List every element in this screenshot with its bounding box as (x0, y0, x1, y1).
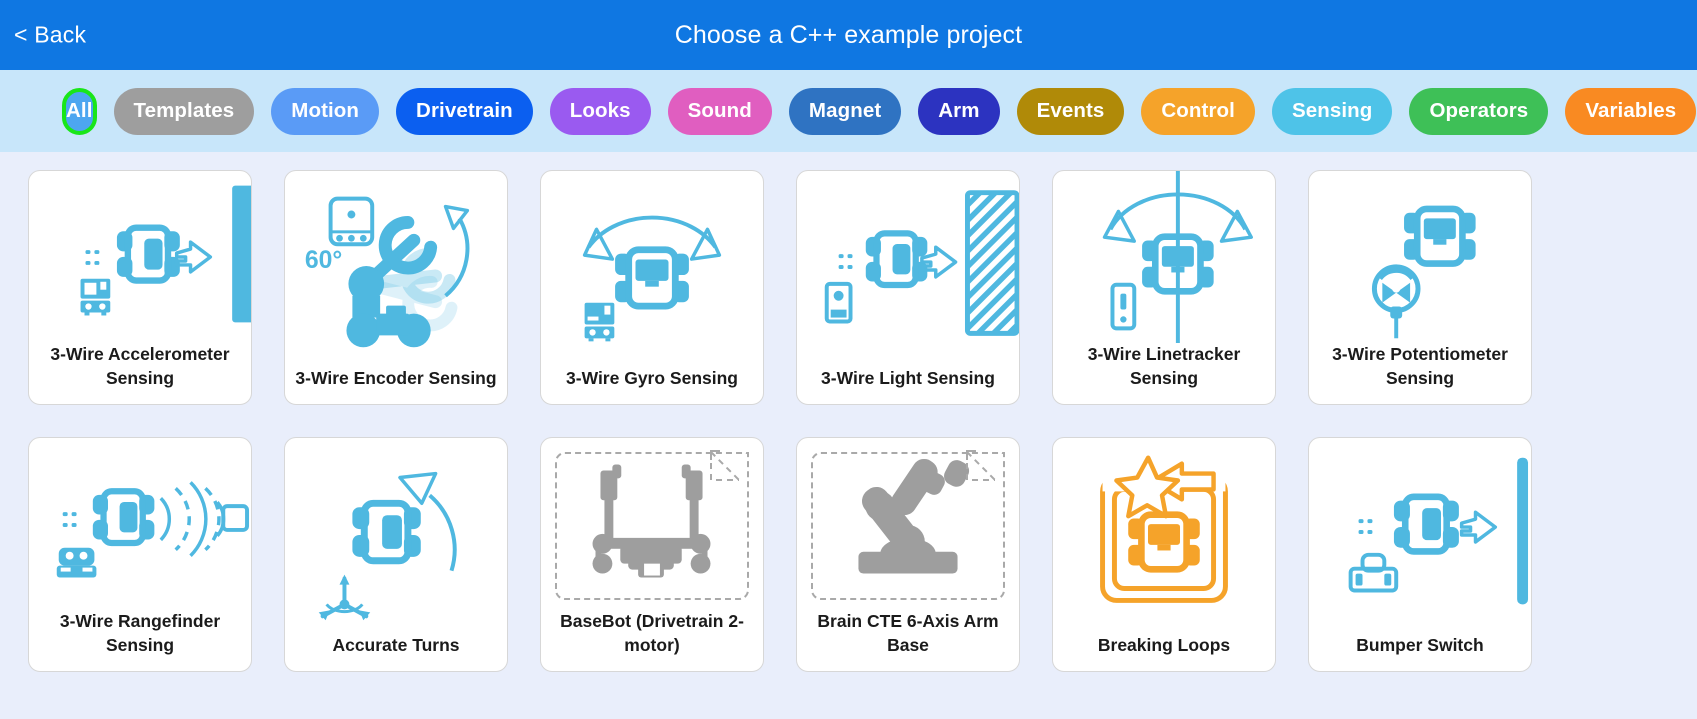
example-project-area: 3-Wire Accelerometer Sensing 60° (0, 152, 1697, 719)
accurate-turns-icon (285, 438, 507, 634)
filter-pill-label: Operators (1429, 99, 1528, 123)
example-card[interactable]: 3-Wire Potentiometer Sensing (1308, 170, 1532, 405)
filter-pill-templates[interactable]: Templates (114, 88, 255, 135)
filter-pill-sensing[interactable]: Sensing (1272, 88, 1392, 135)
example-card-label: 3-Wire Encoder Sensing (285, 367, 507, 404)
back-button[interactable]: < Back (14, 22, 86, 49)
filter-pill-drivetrain[interactable]: Drivetrain (396, 88, 533, 135)
category-filter-bar: AllTemplatesMotionDrivetrainLooksSoundMa… (0, 70, 1697, 152)
example-card[interactable]: 3-Wire Gyro Sensing (540, 170, 764, 405)
example-card-label: 3-Wire Potentiometer Sensing (1309, 343, 1531, 404)
filter-pill-label: Sensing (1292, 99, 1372, 123)
filter-pill-label: Templates (134, 99, 235, 123)
linetracker-icon (1053, 171, 1275, 343)
accelerometer-icon (29, 171, 251, 343)
example-card-label: Bumper Switch (1309, 634, 1531, 671)
light-sensor-icon (797, 171, 1019, 367)
gyro-icon (541, 171, 763, 367)
filter-pill-label: Motion (291, 99, 359, 123)
filter-pill-sound[interactable]: Sound (668, 88, 772, 135)
example-card-label: 3-Wire Rangefinder Sensing (29, 610, 251, 671)
example-card[interactable]: Brain CTE 6-Axis Arm Base (796, 437, 1020, 672)
filter-pill-label: Control (1161, 99, 1235, 123)
filter-pill-label: Variables (1585, 99, 1676, 123)
example-card-label: Breaking Loops (1053, 634, 1275, 671)
filter-pill-operators[interactable]: Operators (1409, 88, 1548, 135)
filter-pill-variables[interactable]: Variables (1565, 88, 1696, 135)
example-card[interactable]: 3-Wire Linetracker Sensing (1052, 170, 1276, 405)
filter-pill-label: Magnet (809, 99, 881, 123)
filter-pill-control[interactable]: Control (1141, 88, 1255, 135)
example-card[interactable]: Breaking Loops (1052, 437, 1276, 672)
example-card-label: Accurate Turns (285, 634, 507, 671)
filter-pill-magnet[interactable]: Magnet (789, 88, 901, 135)
example-card-label: 3-Wire Accelerometer Sensing (29, 343, 251, 404)
filter-pill-label: Sound (688, 99, 752, 123)
svg-text:60°: 60° (305, 247, 342, 274)
example-card[interactable]: 60° (284, 170, 508, 405)
filter-pill-arm[interactable]: Arm (918, 88, 999, 135)
filter-pill-label: Drivetrain (416, 99, 513, 123)
example-project-grid: 3-Wire Accelerometer Sensing 60° (0, 170, 1697, 672)
breaking-loops-icon (1053, 438, 1275, 634)
robot-arm-icon (797, 438, 1019, 610)
example-card-label: 3-Wire Gyro Sensing (541, 367, 763, 404)
filter-pill-label: Events (1037, 99, 1105, 123)
encoder-icon: 60° (285, 171, 507, 367)
filter-pill-all[interactable]: All (62, 88, 97, 135)
filter-pill-label: Arm (938, 99, 979, 123)
filter-pill-looks[interactable]: Looks (550, 88, 651, 135)
bumper-switch-icon (1309, 438, 1531, 634)
page-title: Choose a C++ example project (0, 21, 1697, 50)
potentiometer-icon (1309, 171, 1531, 343)
example-card-label: 3-Wire Linetracker Sensing (1053, 343, 1275, 404)
filter-pill-events[interactable]: Events (1017, 88, 1125, 135)
example-card-label: 3-Wire Light Sensing (797, 367, 1019, 404)
example-card[interactable]: Accurate Turns (284, 437, 508, 672)
example-card-label: Brain CTE 6-Axis Arm Base (797, 610, 1019, 671)
example-card[interactable]: 3-Wire Rangefinder Sensing (28, 437, 252, 672)
app-header: < Back Choose a C++ example project (0, 0, 1697, 70)
example-card[interactable]: Bumper Switch (1308, 437, 1532, 672)
example-card[interactable]: 3-Wire Accelerometer Sensing (28, 170, 252, 405)
example-card-label: BaseBot (Drivetrain 2-motor) (541, 610, 763, 671)
filter-pill-motion[interactable]: Motion (271, 88, 379, 135)
basebot-icon (541, 438, 763, 610)
filter-pill-label: All (66, 99, 93, 123)
rangefinder-icon (29, 438, 251, 610)
example-card[interactable]: 3-Wire Light Sensing (796, 170, 1020, 405)
example-card[interactable]: BaseBot (Drivetrain 2-motor) (540, 437, 764, 672)
filter-pill-label: Looks (570, 99, 631, 123)
